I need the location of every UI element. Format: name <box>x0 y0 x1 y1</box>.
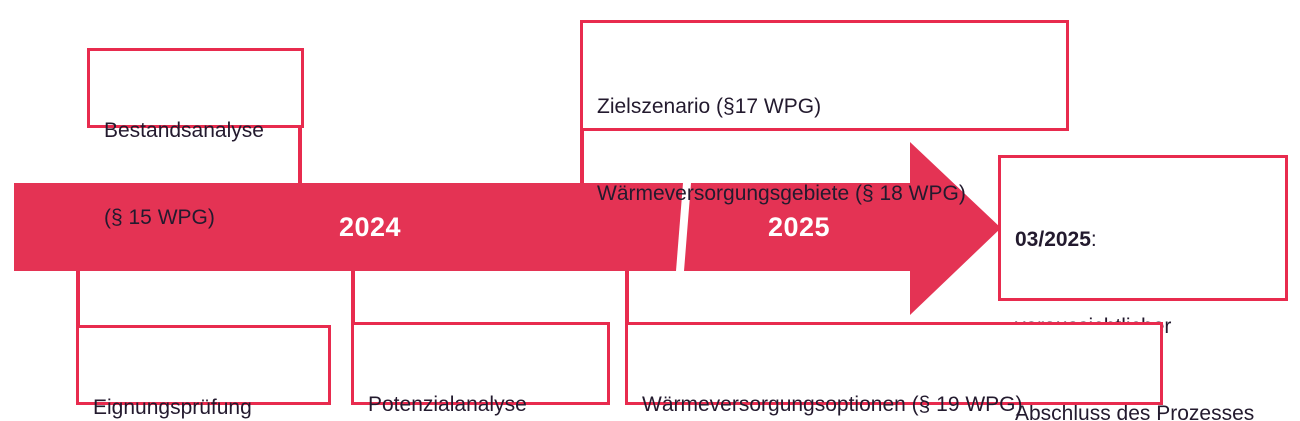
connector-umsetzung <box>625 262 629 324</box>
connector-eignungspruefung <box>76 262 80 328</box>
callout-zielszenario: Zielszenario (§17 WPG) Wärmeversorgungsg… <box>580 20 1069 131</box>
connector-zielszenario <box>580 128 584 196</box>
callout-abschluss-line1: 03/2025: <box>1015 226 1273 255</box>
callout-abschluss: 03/2025: voraussichtlicher Abschluss des… <box>998 155 1288 301</box>
timeline-diagram: 2024 2025 Bestandsanalyse (§ 15 WPG) Zie… <box>0 0 1300 421</box>
year-label-2025: 2025 <box>768 212 830 243</box>
callout-potenzialanalyse: Potenzialanalyse (§ 16 WPG) <box>351 322 610 405</box>
callout-eignungspruefung-line1: Eignungsprüfung <box>93 394 316 421</box>
callout-potenzialanalyse-line1: Potenzialanalyse <box>368 391 595 420</box>
callout-bestandsanalyse: Bestandsanalyse (§ 15 WPG) <box>87 48 304 128</box>
connector-potenzialanalyse <box>351 262 355 324</box>
callout-umsetzung-line1: Wärmeversorgungsoptionen (§ 19 WPG) <box>642 391 1148 420</box>
callout-eignungspruefung: Eignungsprüfung nach (§ 14 WPG) <box>76 325 331 405</box>
callout-bestandsanalyse-line2: (§ 15 WPG) <box>104 204 289 233</box>
connector-bestandsanalyse <box>298 125 302 195</box>
callout-zielszenario-line1: Zielszenario (§17 WPG) <box>597 93 1054 122</box>
callout-abschluss-date: 03/2025 <box>1015 228 1091 251</box>
year-label-2024: 2024 <box>339 212 401 243</box>
callout-zielszenario-line2: Wärmeversorgungsgebiete (§ 18 WPG) <box>597 180 1054 209</box>
callout-bestandsanalyse-line1: Bestandsanalyse <box>104 117 289 146</box>
callout-umsetzung: Wärmeversorgungsoptionen (§ 19 WPG) Umse… <box>625 322 1163 405</box>
callout-abschluss-colon: : <box>1091 228 1097 251</box>
